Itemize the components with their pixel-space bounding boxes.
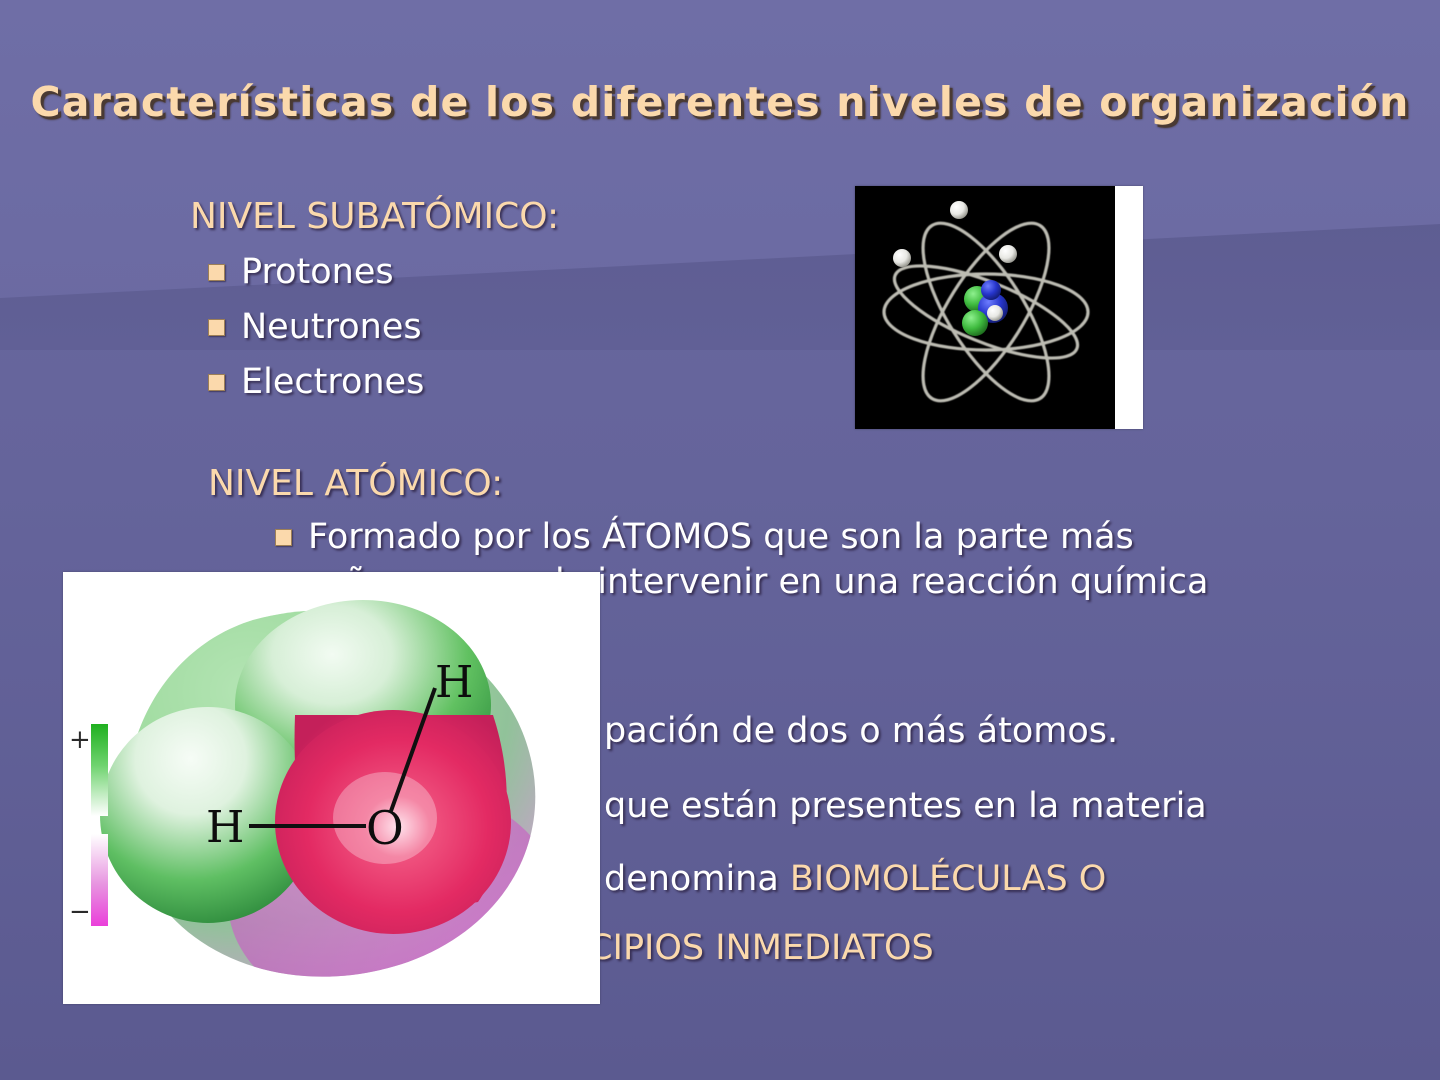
- bullet-item-neutrones: Neutrones: [208, 307, 422, 347]
- bullet-label: Formado por los ÁTOMOS que son la parte …: [308, 517, 1134, 557]
- molecular-line-3-emphasis: BIOMOLÉCULAS O: [790, 859, 1106, 899]
- molecular-line-1: pación de dos o más átomos.: [604, 711, 1118, 751]
- section-heading-subatomic: NIVEL SUBATÓMICO:: [190, 196, 559, 237]
- molecular-line-3: denomina BIOMOLÉCULAS O: [604, 859, 1106, 899]
- molecular-line-2: que están presentes en la materia: [604, 786, 1207, 826]
- bullet-label: Protones: [241, 252, 394, 292]
- square-bullet-icon: [275, 529, 292, 546]
- section-heading-atomic: NIVEL ATÓMICO:: [208, 463, 503, 504]
- bullet-item-electrones: Electrones: [208, 362, 424, 402]
- square-bullet-icon: [208, 374, 225, 391]
- square-bullet-icon: [208, 319, 225, 336]
- slide-canvas: Características de los diferentes nivele…: [0, 0, 1440, 1080]
- legend-positive-symbol: +: [69, 725, 91, 755]
- square-bullet-icon: [208, 264, 225, 281]
- bullet-item-protones: Protones: [208, 252, 394, 292]
- atom-svg: [855, 186, 1115, 429]
- atom-illustration: [855, 186, 1143, 429]
- bullet-item-atomos-line1: Formado por los ÁTOMOS que son la parte …: [275, 517, 1134, 557]
- bullet-label: Neutrones: [241, 307, 422, 347]
- water-molecule-illustration: H H O + −: [63, 572, 600, 1004]
- atom-illustration-canvas: [855, 186, 1115, 429]
- label-hydrogen-upper: H: [435, 657, 473, 708]
- label-hydrogen-left: H: [206, 802, 244, 853]
- molecular-line-3-prefix: denomina: [604, 859, 790, 899]
- label-oxygen: O: [366, 801, 404, 855]
- legend-negative-symbol: −: [69, 897, 91, 927]
- molecular-line-4: NCIPIOS INMEDIATOS: [562, 928, 934, 968]
- bullet-label: Electrones: [241, 362, 424, 402]
- water-molecule-svg: H H O + −: [63, 572, 600, 1004]
- slide-title: Características de los diferentes nivele…: [0, 78, 1440, 126]
